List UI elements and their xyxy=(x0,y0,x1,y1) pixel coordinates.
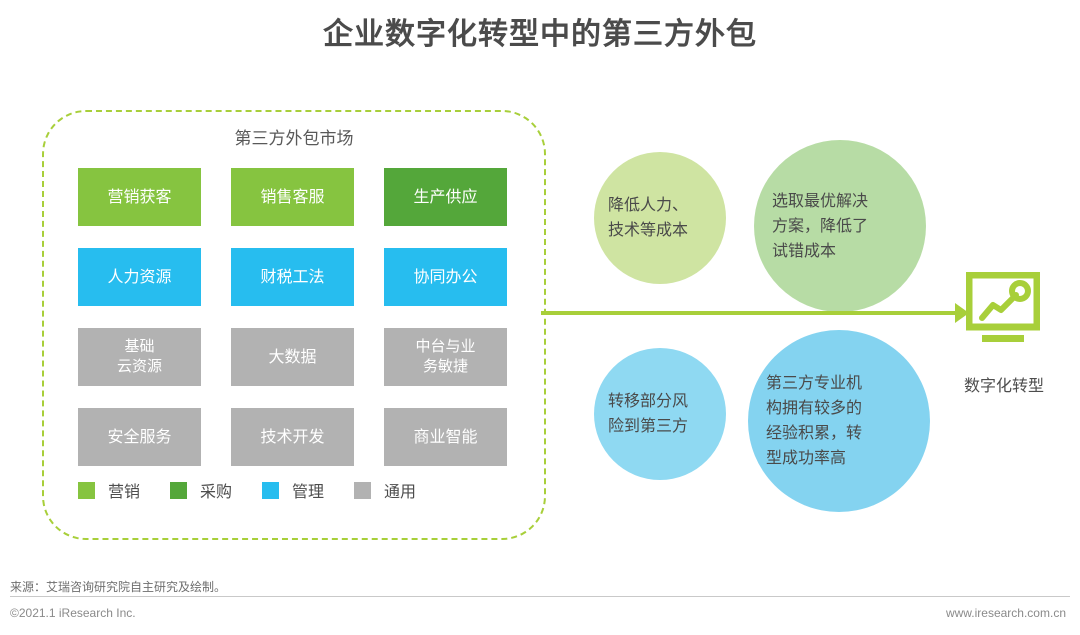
legend-label: 营销 xyxy=(108,478,140,502)
monitor-growth-chart-icon xyxy=(966,272,1040,344)
benefit-circle-risk-transfer: 转移部分风 险到第三方 xyxy=(594,348,726,480)
category-cell[interactable]: 财税工法 xyxy=(231,248,354,306)
category-cell[interactable]: 协同办公 xyxy=(384,248,507,306)
category-grid: 营销获客 销售客服 生产供应 人力资源 财税工法 协同办公 基础 云资源 大数据… xyxy=(78,168,507,466)
legend-swatch-icon xyxy=(78,482,95,499)
benefit-text: 转移部分风 险到第三方 xyxy=(594,389,726,439)
category-cell[interactable]: 生产供应 xyxy=(384,168,507,226)
legend-item-management: 管理 xyxy=(262,478,324,502)
category-cell[interactable]: 技术开发 xyxy=(231,408,354,466)
panel-heading: 第三方外包市场 xyxy=(42,126,546,152)
flow-arrow-line xyxy=(541,311,959,315)
benefit-text: 第三方专业机 构拥有较多的 经验积累，转 型成功率高 xyxy=(748,371,930,471)
legend-item-procurement: 采购 xyxy=(170,478,232,502)
category-legend: 营销 采购 管理 通用 xyxy=(78,478,508,502)
category-cell[interactable]: 基础 云资源 xyxy=(78,328,201,386)
legend-swatch-icon xyxy=(262,482,279,499)
legend-label: 通用 xyxy=(384,478,416,502)
page-title: 企业数字化转型中的第三方外包 xyxy=(0,14,1080,56)
benefit-text: 降低人力、 技术等成本 xyxy=(594,193,726,243)
benefit-circle-expertise: 第三方专业机 构拥有较多的 经验积累，转 型成功率高 xyxy=(748,330,930,512)
infographic-root: 企业数字化转型中的第三方外包 第三方外包市场 营销获客 销售客服 生产供应 人力… xyxy=(0,0,1080,635)
benefit-circle-optimal-solution: 选取最优解决 方案，降低了 试错成本 xyxy=(754,140,926,312)
result-label: 数字化转型 xyxy=(930,372,1078,396)
benefit-text: 选取最优解决 方案，降低了 试错成本 xyxy=(754,189,926,264)
category-cell[interactable]: 中台与业 务敏捷 xyxy=(384,328,507,386)
category-cell[interactable]: 人力资源 xyxy=(78,248,201,306)
legend-item-general: 通用 xyxy=(354,478,416,502)
legend-item-marketing: 营销 xyxy=(78,478,140,502)
legend-swatch-icon xyxy=(170,482,187,499)
category-cell[interactable]: 营销获客 xyxy=(78,168,201,226)
legend-label: 管理 xyxy=(292,478,324,502)
copyright-text: ©2021.1 iResearch Inc. xyxy=(10,606,136,620)
category-cell[interactable]: 安全服务 xyxy=(78,408,201,466)
legend-swatch-icon xyxy=(354,482,371,499)
source-note: 来源：艾瑞咨询研究院自主研究及绘制。 xyxy=(10,578,226,595)
category-cell[interactable]: 大数据 xyxy=(231,328,354,386)
category-cell[interactable]: 销售客服 xyxy=(231,168,354,226)
footer-divider xyxy=(10,596,1070,597)
category-cell[interactable]: 商业智能 xyxy=(384,408,507,466)
benefit-circle-cost-reduction: 降低人力、 技术等成本 xyxy=(594,152,726,284)
legend-label: 采购 xyxy=(200,478,232,502)
website-text: www.iresearch.com.cn xyxy=(946,606,1066,620)
